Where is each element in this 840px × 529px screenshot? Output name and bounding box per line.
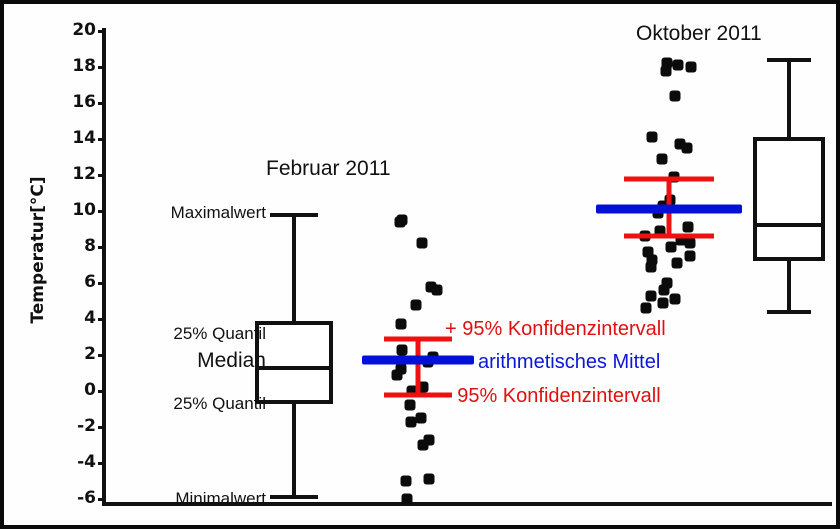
data-point: [666, 242, 677, 253]
legend-ci-lower: - 95% Konfidenzintervall: [445, 385, 661, 408]
box-iqr: [753, 137, 825, 261]
y-tick-label: 2: [62, 346, 96, 363]
mean-bar: [362, 356, 474, 365]
data-point: [672, 258, 683, 269]
data-point: [410, 299, 421, 310]
y-tick-label: -4: [62, 454, 96, 471]
data-point: [404, 400, 415, 411]
data-point: [673, 60, 684, 71]
data-point: [416, 238, 427, 249]
box-iqr: [255, 321, 333, 404]
data-point: [645, 290, 656, 301]
y-tick-label: 6: [62, 274, 96, 291]
legend-ci-upper: + 95% Konfidenzintervall: [445, 318, 666, 341]
data-point: [657, 153, 668, 164]
data-point: [417, 440, 428, 451]
annotation-minimum: Minimalwert: [76, 489, 266, 509]
y-tick: [98, 174, 106, 177]
data-point: [661, 65, 672, 76]
group-title-february: Februar 2011: [266, 157, 391, 181]
y-tick: [98, 390, 106, 393]
legend-mean: arithmetisches Mittel: [478, 351, 660, 374]
data-point: [402, 494, 413, 505]
data-point: [400, 476, 411, 487]
y-tick: [98, 282, 106, 285]
y-tick: [98, 426, 106, 429]
y-tick-label: 12: [62, 166, 96, 183]
data-point: [684, 238, 695, 249]
data-point: [405, 416, 416, 427]
y-tick: [98, 138, 106, 141]
y-tick-label: 14: [62, 130, 96, 147]
data-point: [646, 261, 657, 272]
box-cap-min: [767, 310, 812, 314]
y-tick: [98, 30, 106, 33]
box-whisker-lower: [787, 261, 791, 311]
data-point: [669, 90, 680, 101]
box-cap-max: [270, 213, 318, 217]
y-tick: [98, 318, 106, 321]
y-tick-label: 18: [62, 58, 96, 75]
data-point: [657, 297, 668, 308]
annotation-lower-quartile: 25% Quantil: [66, 394, 266, 414]
box-median-line: [255, 366, 333, 370]
data-point: [640, 303, 651, 314]
data-point: [682, 143, 693, 154]
y-tick-label: -2: [62, 418, 96, 435]
box-cap-max: [767, 58, 812, 62]
box-median-line: [753, 223, 825, 227]
data-point: [682, 222, 693, 233]
data-point: [415, 413, 426, 424]
box-whisker-upper: [292, 215, 296, 321]
y-tick: [98, 462, 106, 465]
data-point: [394, 216, 405, 227]
box-whisker-upper: [787, 60, 791, 137]
annotation-maximum: Maximalwert: [76, 203, 266, 223]
y-axis: [102, 28, 106, 502]
y-axis-label: Temperatur[°C]: [28, 170, 48, 330]
y-tick-label: 16: [62, 94, 96, 111]
data-point: [669, 294, 680, 305]
data-point: [685, 62, 696, 73]
data-point: [397, 344, 408, 355]
data-point: [431, 285, 442, 296]
data-point: [659, 285, 670, 296]
annotation-upper-quartile: 25% Quantil: [66, 324, 266, 344]
mean-bar: [596, 205, 742, 214]
y-tick: [98, 246, 106, 249]
group-title-october: Oktober 2011: [636, 22, 762, 46]
data-point: [646, 132, 657, 143]
y-tick: [98, 102, 106, 105]
y-tick-label: 20: [62, 22, 96, 39]
box-whisker-lower: [292, 404, 296, 498]
plot-area: Temperatur[°C] 20181614121086420-2-4-6 F…: [4, 4, 836, 525]
box-cap-min: [270, 495, 318, 499]
ci-stem: [416, 339, 421, 395]
data-point: [396, 319, 407, 330]
data-point: [424, 474, 435, 485]
figure-frame: Temperatur[°C] 20181614121086420-2-4-6 F…: [0, 0, 840, 529]
data-point: [392, 369, 403, 380]
annotation-median: Median: [96, 349, 266, 373]
data-point: [684, 251, 695, 262]
y-tick-label: 8: [62, 238, 96, 255]
y-tick: [98, 66, 106, 69]
